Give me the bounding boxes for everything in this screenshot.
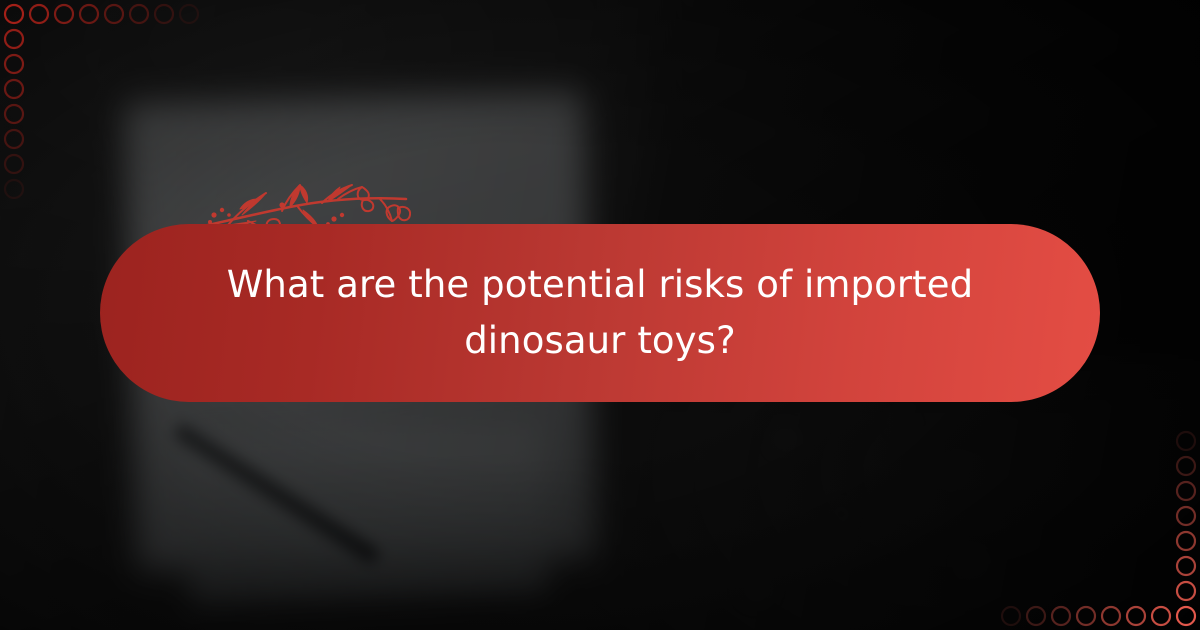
circle-dot-grid-top-left: [0, 0, 210, 210]
question-banner: What are the potential risks of imported…: [100, 224, 1100, 402]
share-card-canvas: What are the potential risks of imported…: [0, 0, 1200, 630]
circle-dot-grid-bottom-right: [990, 420, 1200, 630]
question-text: What are the potential risks of imported…: [220, 257, 980, 369]
